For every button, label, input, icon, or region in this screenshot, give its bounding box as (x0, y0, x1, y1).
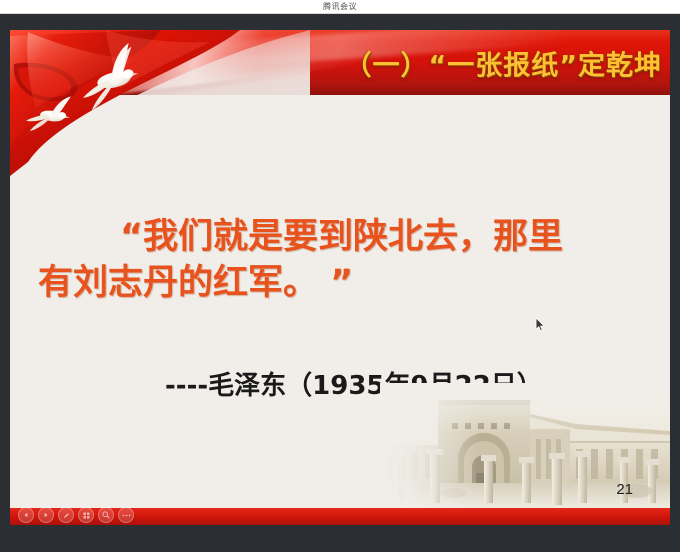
slide-header-banner: （一）“一张报纸”定乾坤 (10, 30, 670, 95)
slide-page-number: 21 (616, 481, 633, 498)
slide-quote: “我们就是要到陕北去，那里 有刘志丹的红军。 ” (10, 215, 670, 306)
next-slide-button[interactable] (38, 507, 54, 523)
pen-annotation-button[interactable] (58, 507, 74, 523)
shared-screen-window: 腾讯会议 （一）“一张报纸”定乾坤 (0, 0, 680, 552)
app-title: 腾讯会议 (0, 0, 680, 13)
previous-slide-button[interactable] (18, 507, 34, 523)
slide-footer-bar (10, 508, 670, 525)
slide-overview-button[interactable] (78, 507, 94, 523)
more-options-button[interactable] (118, 507, 134, 523)
slide-section-title: （一）“一张报纸”定乾坤 (345, 43, 663, 82)
quote-line-1: “我们就是要到陕北去，那里 (10, 215, 670, 261)
presentation-slide[interactable]: （一）“一张报纸”定乾坤 (10, 30, 670, 525)
window-titlebar: 腾讯会议 (0, 0, 680, 14)
presenter-toolbar[interactable] (18, 506, 134, 524)
quote-line-2: 有刘志丹的红军。 ” (10, 261, 670, 307)
screen-share-stage: （一）“一张报纸”定乾坤 (0, 14, 680, 552)
zoom-button[interactable] (98, 507, 114, 523)
